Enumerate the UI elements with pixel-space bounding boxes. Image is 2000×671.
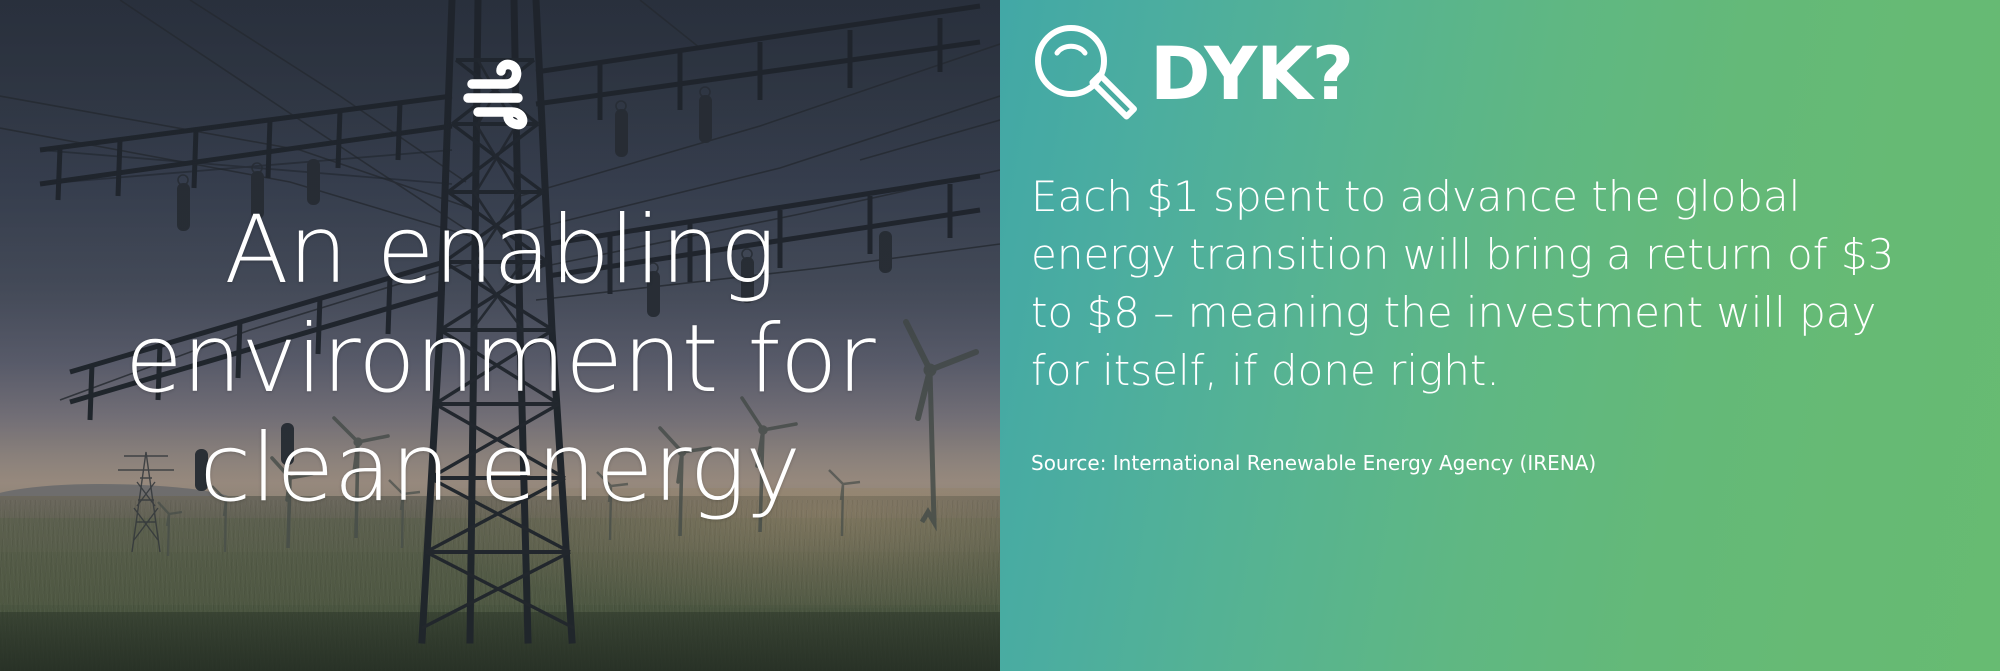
dyk-header: DYK? [1030, 20, 1353, 125]
dyk-title: DYK? [1150, 38, 1353, 111]
infographic-banner: An enabling environment for clean energy… [0, 0, 2000, 671]
left-photo-panel: An enabling environment for clean energy [0, 0, 1000, 671]
search-icon [1030, 20, 1140, 125]
right-info-panel: DYK? Each $1 spent to advance the global… [1000, 0, 2000, 671]
page-title: An enabling environment for clean energy [30, 196, 970, 523]
dyk-source-text: Source: International Renewable Energy A… [1031, 450, 1911, 476]
wind-icon [462, 58, 542, 130]
dyk-body-text: Each $1 spent to advance the global ener… [1031, 168, 1911, 400]
